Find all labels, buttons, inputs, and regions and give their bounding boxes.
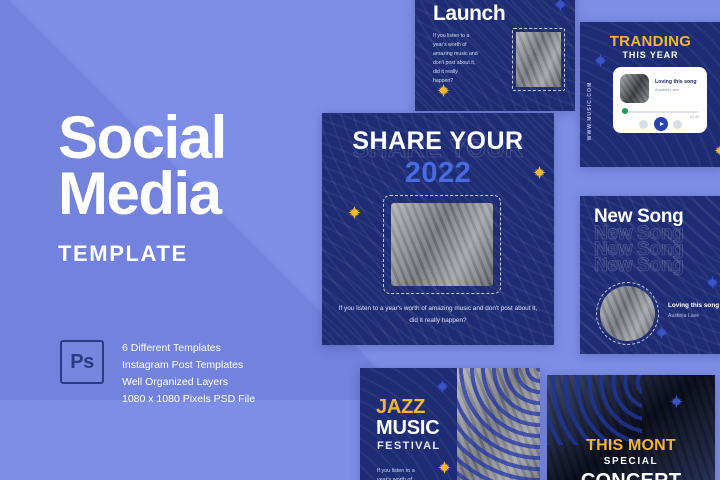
star-icon bbox=[594, 54, 607, 67]
template-card-newsong[interactable]: New Song New Song New Song New Song Lovi… bbox=[580, 196, 720, 354]
progress-track[interactable] bbox=[621, 111, 699, 113]
card-title-line1: THIS MONT bbox=[547, 437, 715, 455]
card-year: 2022 bbox=[322, 157, 554, 190]
card-title-line2: SPECIAL bbox=[547, 456, 715, 467]
card-body-text: If you listen to a year's worth of amazi… bbox=[433, 32, 478, 87]
feature-list: 6 Different Templates Instagram Post Tem… bbox=[122, 340, 255, 408]
star-icon bbox=[533, 166, 546, 179]
star-icon bbox=[438, 461, 451, 474]
star-icon bbox=[714, 144, 720, 157]
card-title-line3: FESTIVAL bbox=[377, 440, 441, 452]
play-icon[interactable] bbox=[654, 117, 668, 131]
star-icon bbox=[670, 395, 683, 408]
card-photo bbox=[391, 203, 493, 286]
progress-knob[interactable] bbox=[622, 108, 628, 114]
photoshop-icon: Ps bbox=[60, 340, 104, 384]
song-title: Loving this song bbox=[668, 302, 719, 309]
template-card-concert[interactable]: THIS MONT SPECIAL CONCERT bbox=[547, 375, 715, 480]
list-item: Instagram Post Templates bbox=[122, 357, 255, 374]
star-icon bbox=[348, 206, 361, 219]
template-card-jazz[interactable]: JAZZ MUSIC FESTIVAL If you listen to a y… bbox=[360, 368, 540, 480]
card-photo bbox=[516, 32, 561, 87]
previous-icon[interactable] bbox=[639, 120, 648, 129]
card-caption: If you listen to a year's worth of amazi… bbox=[336, 303, 540, 327]
album-art bbox=[620, 74, 649, 103]
card-title-line2: MUSIC bbox=[376, 417, 439, 440]
wave-overlay bbox=[457, 368, 540, 480]
template-card-share[interactable]: SHARE YOUR SHARE YOUR 2022 If you listen… bbox=[322, 113, 554, 345]
next-icon[interactable] bbox=[673, 120, 682, 129]
card-title: TRANDING bbox=[580, 33, 720, 50]
card-body-text: If you listen to a year's worth of bbox=[377, 467, 429, 480]
template-card-tranding[interactable]: TRANDING THIS YEAR WWW.MUSIC.COM Loving … bbox=[580, 22, 720, 167]
star-icon bbox=[436, 380, 449, 393]
card-title-line1: JAZZ bbox=[376, 396, 425, 419]
player-song-title: Loving this song bbox=[655, 79, 697, 85]
artist-name: Austinia Lave bbox=[668, 313, 699, 319]
hero-line-1: Social bbox=[58, 110, 328, 166]
music-player-widget[interactable]: Loving this song Austinia Lave 02:40 bbox=[613, 67, 707, 133]
list-item: 1080 x 1080 Pixels PSD File bbox=[122, 391, 255, 408]
player-artist-name: Austinia Lave bbox=[655, 87, 679, 92]
star-icon bbox=[655, 326, 668, 339]
features-block: Ps 6 Different Templates Instagram Post … bbox=[60, 340, 255, 408]
website-url-vertical: WWW.MUSIC.COM bbox=[587, 80, 593, 142]
list-item: Well Organized Layers bbox=[122, 374, 255, 391]
card-photo bbox=[457, 368, 540, 480]
card-title: Launch bbox=[433, 2, 505, 26]
player-time: 02:40 bbox=[690, 115, 699, 119]
card-title-line3: CONCERT bbox=[547, 470, 715, 480]
card-title-ghost: New Song bbox=[594, 255, 683, 277]
hero-text-block: Social Media TEMPLATE bbox=[58, 110, 328, 267]
card-title: SHARE YOUR bbox=[322, 127, 554, 156]
star-icon bbox=[554, 0, 567, 11]
hero-line-2: Media bbox=[58, 166, 328, 222]
hero-subtitle: TEMPLATE bbox=[58, 241, 328, 267]
avatar bbox=[600, 286, 655, 341]
template-card-launch[interactable]: Launch If you listen to a year's worth o… bbox=[415, 0, 575, 111]
list-item: 6 Different Templates bbox=[122, 340, 255, 357]
star-icon bbox=[437, 84, 450, 97]
star-icon bbox=[706, 276, 719, 289]
